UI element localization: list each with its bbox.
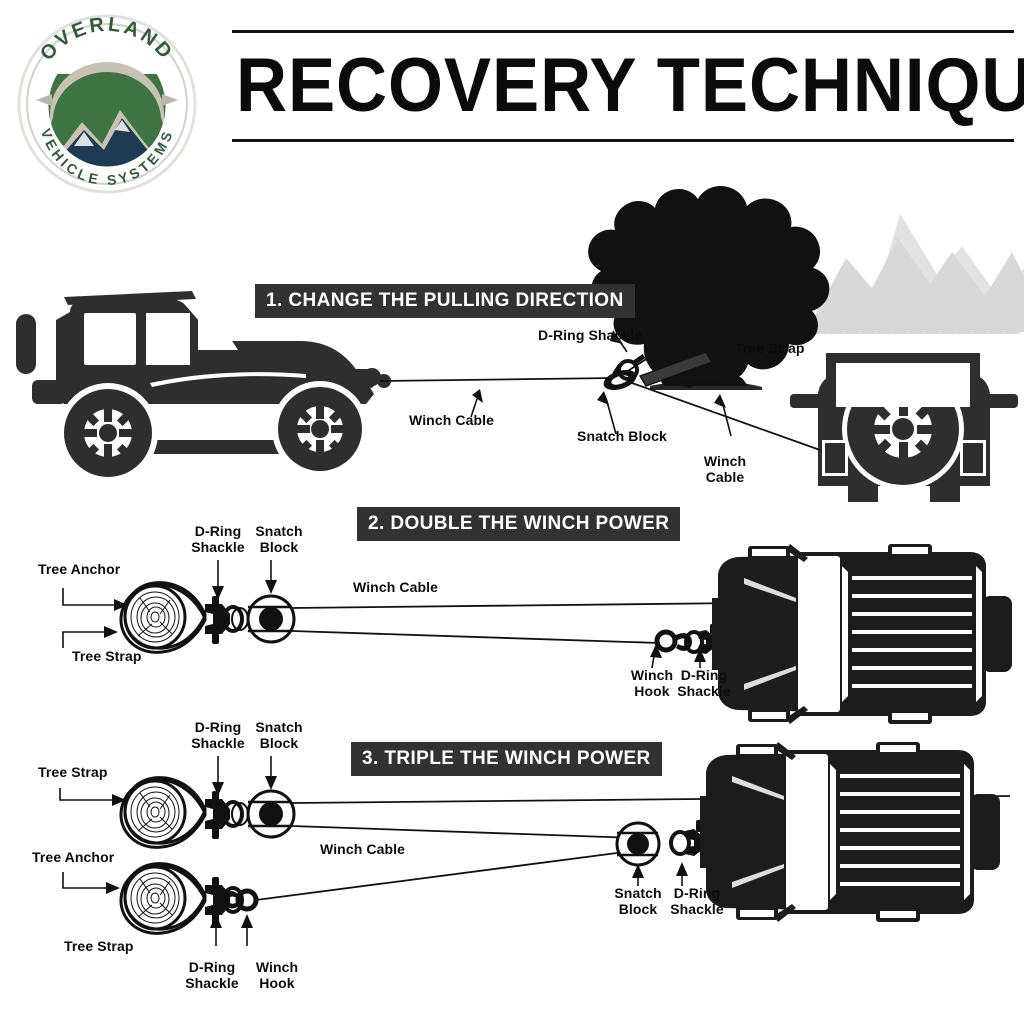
s3-d-ring-shackle-label-right: D-Ring Shackle [662,886,732,917]
d-ring-shackle [614,356,644,379]
s3-tree-anchor-label: Tree Anchor [32,850,114,866]
winch-hook-lower [224,891,256,909]
s3-d-ring-shackle-label-top: D-Ring Shackle [184,720,252,751]
winch-cable-lower [292,631,660,643]
snatch-block [601,366,639,394]
logo-svg: OVERLAND VEHICLE SYSTEMS [12,14,202,194]
winch-hook [657,632,692,651]
s1-winch-cable-label-left: Winch Cable [409,413,494,429]
d-ring-shackle-lower [205,877,242,925]
s1-tree-strap-label: Tree Strap [735,341,804,357]
s3-tree-strap-label-bottom: Tree Strap [64,939,133,955]
snatch-block-right [617,823,659,865]
s3-winch-hook-label: Winch Hook [248,960,306,991]
section-3-banner: 3. TRIPLE THE WINCH POWER [352,743,661,775]
s3-tree-strap-label-top: Tree Strap [38,765,107,781]
s1-d-ring-shackle-label: D-Ring Shackle [538,328,642,344]
winch-cable-upper [292,600,1010,608]
winch-cable-3-mid [292,826,636,838]
s2-snatch-block-label: Snatch Block [248,524,310,555]
s3-snatch-block-label-top: Snatch Block [248,720,310,751]
page-title-block: RECOVERY TECHNIQUES [232,30,1014,142]
s2-winch-cable-label: Winch Cable [353,580,438,596]
pine-tree-row [812,288,1020,334]
winch-cable-3-lower [256,850,640,900]
s1-snatch-block-label: Snatch Block [577,429,667,445]
d-ring-shackle [205,596,248,644]
tree-anchor-stump [125,586,185,648]
s3-winch-cable-label: Winch Cable [320,842,405,858]
s3-d-ring-shackle-label-bottom: D-Ring Shackle [176,960,248,991]
section-1-banner: 1. CHANGE THE PULLING DIRECTION [256,285,634,317]
jeep-top-view-3 [700,742,1000,922]
page-title: RECOVERY TECHNIQUES [236,48,1024,124]
s2-d-ring-shackle-label-right: D-Ring Shackle [670,668,738,699]
callout-leaders-1 [471,337,737,436]
s2-tree-anchor-label: Tree Anchor [38,562,120,578]
snatch-block-upper [248,791,294,837]
s2-d-ring-shackle-label: D-Ring Shackle [184,524,252,555]
jeep-side-view-left [16,291,391,483]
winch-cable-3-upper [292,796,1010,803]
tree-strap-lower [121,864,205,934]
winch-cable-left-run [380,378,614,381]
d-ring-shackle-upper [205,791,248,839]
snatch-block [248,596,294,642]
jeep-top-view [712,544,1012,724]
s3-snatch-block-label-right: Snatch Block [607,886,669,917]
s1-winch-cable-label-right: Winch Cable [692,454,758,485]
s2-tree-strap-label: Tree Strap [72,649,141,665]
overland-vehicle-systems-logo: OVERLAND VEHICLE SYSTEMS [12,14,202,194]
section-2-banner: 2. DOUBLE THE WINCH POWER [358,508,679,540]
title-rule-top [232,30,1014,33]
tree-anchor-stump-upper [125,781,185,843]
d-ring-shackle-right [671,820,703,856]
tree-strap [640,352,712,386]
title-rule-bottom [232,139,1014,142]
d-ring-shackle-right [686,624,716,654]
tree-anchor-stump-lower [125,867,185,929]
shackle-link [620,358,648,376]
infographic-canvas: OVERLAND VEHICLE SYSTEMS RECOVERY TECHNI… [0,0,1024,1024]
jeep-rear-view-right [790,353,1018,502]
tree-strap [121,583,205,653]
tree-strap-upper [121,778,205,848]
